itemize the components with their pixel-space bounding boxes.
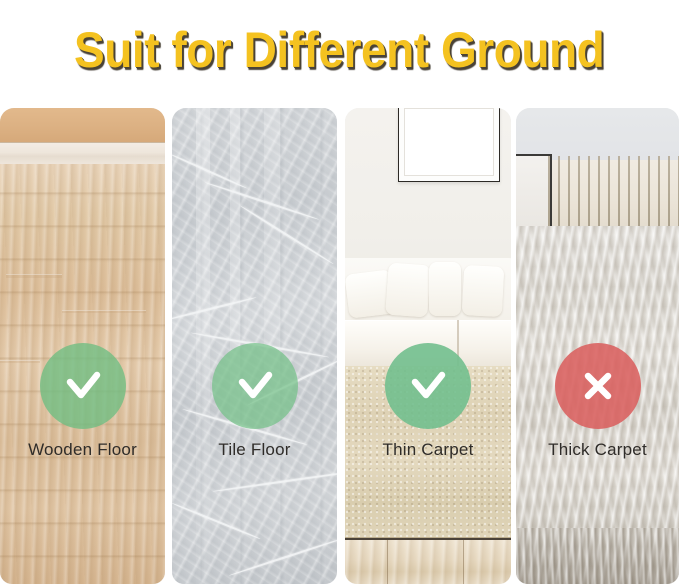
- status-badge-tile-floor: [212, 343, 298, 429]
- panel-tile-floor[interactable]: Tile Floor: [172, 108, 337, 584]
- panel-thin-carpet[interactable]: Thin Carpet: [345, 108, 511, 584]
- wall-surface: [0, 108, 165, 142]
- cross-icon: [575, 363, 621, 409]
- panel-label-thick-carpet: Thick Carpet: [516, 440, 679, 460]
- panel-wooden-floor[interactable]: Wooden Floor: [0, 108, 165, 584]
- rod-divider: [546, 156, 679, 234]
- check-icon: [405, 363, 451, 409]
- check-icon: [60, 363, 106, 409]
- status-badge-thin-carpet: [385, 343, 471, 429]
- wall-surface-upper: [516, 108, 679, 160]
- status-badge-wooden-floor: [40, 343, 126, 429]
- page-title: Suit for Different Ground: [74, 23, 604, 77]
- baseboard: [0, 142, 165, 165]
- check-icon: [232, 363, 278, 409]
- panel-thick-carpet[interactable]: Thick Carpet: [516, 108, 679, 584]
- panel-label-wooden-floor: Wooden Floor: [0, 440, 165, 460]
- ground-type-panels: Wooden Floor: [0, 108, 679, 584]
- framed-picture: [398, 108, 500, 182]
- title-banner: Suit for Different Ground: [0, 0, 679, 100]
- panel-label-tile-floor: Tile Floor: [172, 440, 337, 460]
- panel-label-thin-carpet: Thin Carpet: [345, 440, 511, 460]
- wood-floor-strip: [345, 538, 511, 584]
- status-badge-thick-carpet: [555, 343, 641, 429]
